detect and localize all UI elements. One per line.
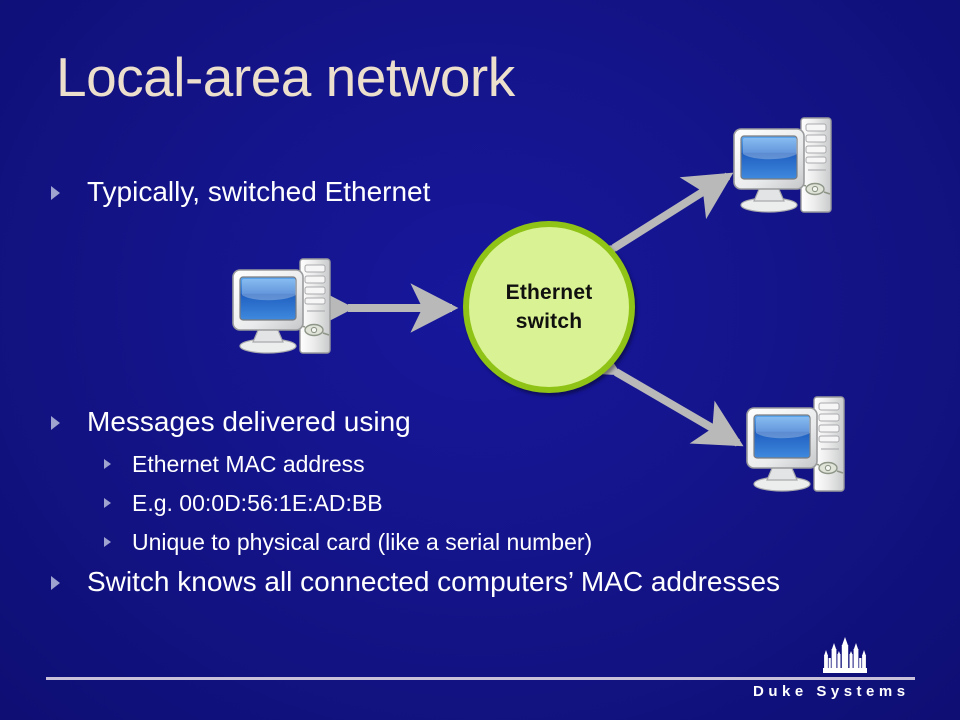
- slide-canvas: Local-area network: [0, 0, 960, 720]
- bullet-triangle-icon: [51, 576, 60, 590]
- sub-bullet-item: Unique to physical card (like a serial n…: [104, 528, 592, 557]
- bullet-item: Switch knows all connected computers’ MA…: [51, 565, 780, 599]
- page-title: Local-area network: [56, 47, 515, 107]
- duke-chapel-logo-icon: [812, 637, 878, 677]
- bullet-item: Typically, switched Ethernet: [51, 175, 430, 209]
- bullet-label: Messages delivered using: [87, 405, 411, 439]
- computer-left-icon: [228, 254, 340, 358]
- footer-brand: Duke Systems: [753, 683, 910, 700]
- bullet-triangle-icon: [104, 459, 111, 469]
- bullet-triangle-icon: [104, 498, 111, 508]
- sub-bullet-label: Ethernet MAC address: [132, 450, 365, 479]
- computer-top-right-icon: [729, 113, 841, 217]
- bullet-triangle-icon: [51, 416, 60, 430]
- sub-bullet-item: Ethernet MAC address: [104, 450, 365, 479]
- bullet-label: Switch knows all connected computers’ MA…: [87, 565, 780, 599]
- network-diagram: [0, 0, 960, 720]
- bullet-triangle-icon: [104, 537, 111, 547]
- ethernet-switch-node: Ethernet switch: [463, 221, 635, 393]
- sub-bullet-label: E.g. 00:0D:56:1E:AD:BB: [132, 489, 383, 518]
- computer-bottom-right-icon: [742, 392, 854, 496]
- footer-divider: [46, 677, 915, 680]
- bullet-label: Typically, switched Ethernet: [87, 175, 430, 209]
- bullet-item: Messages delivered using: [51, 405, 411, 439]
- switch-label-line2: switch: [516, 307, 583, 336]
- link-top-right: [614, 176, 728, 248]
- sub-bullet-label: Unique to physical card (like a serial n…: [132, 528, 592, 557]
- switch-label-line1: Ethernet: [506, 278, 593, 307]
- sub-bullet-item: E.g. 00:0D:56:1E:AD:BB: [104, 489, 383, 518]
- link-bottom-right: [616, 372, 738, 443]
- bullet-triangle-icon: [51, 186, 60, 200]
